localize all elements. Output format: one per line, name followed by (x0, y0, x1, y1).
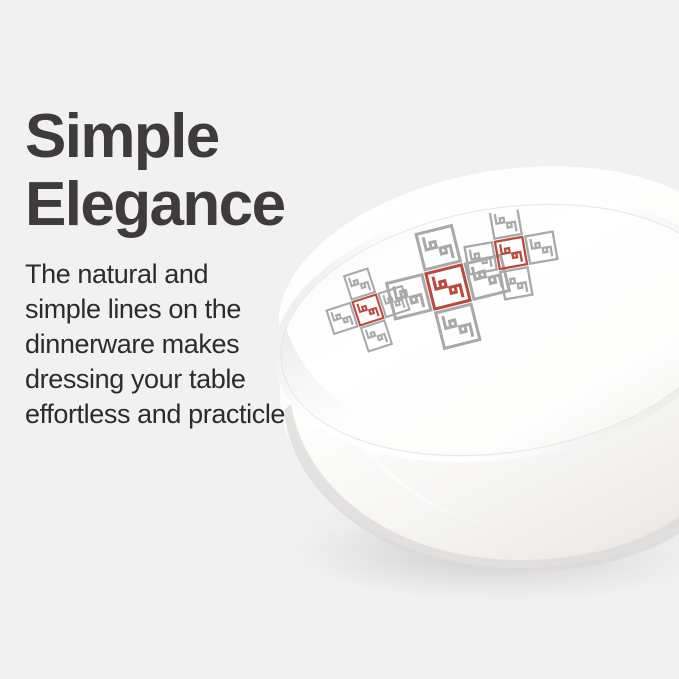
headline-line-1: Simple (25, 103, 355, 171)
product-lifestyle-image: Simple Elegance The natural and simple l… (0, 0, 679, 679)
description-line-2: simple lines on the (25, 292, 355, 327)
marketing-copy: Simple Elegance The natural and simple l… (25, 103, 355, 432)
headline-line-2: Elegance (25, 171, 355, 239)
description-line-5: effortless and practicle (25, 397, 355, 432)
description-text: The natural and simple lines on the dinn… (25, 257, 355, 432)
description-line-1: The natural and (25, 257, 355, 292)
description-line-3: dinnerware makes (25, 327, 355, 362)
description-line-4: dressing your table (25, 362, 355, 397)
page-title: Simple Elegance (25, 103, 355, 239)
